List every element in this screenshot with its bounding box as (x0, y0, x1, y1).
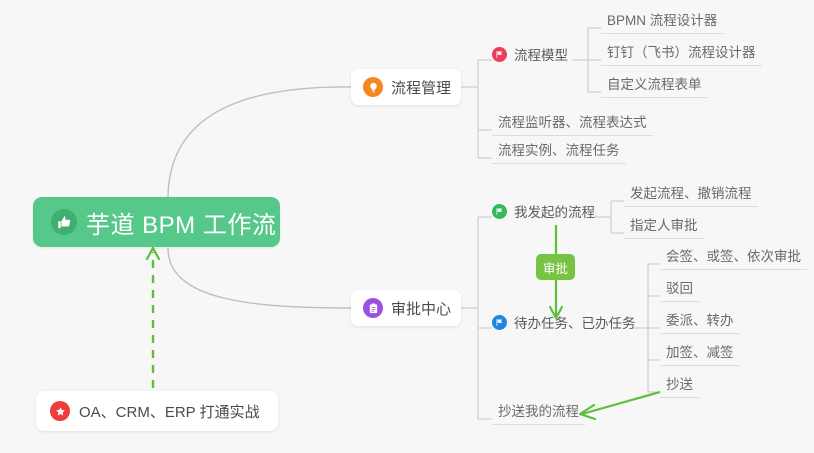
leaf-bohui[interactable]: 驳回 (660, 280, 699, 302)
flag-icon (492, 204, 507, 219)
leaf-faqi-chexiao-liucheng[interactable]: 发起流程、撤销流程 (624, 185, 758, 207)
leaf-dingding-feishu-designer[interactable]: 钉钉（飞书）流程设计器 (601, 44, 762, 66)
curve-root-to-shenpizhongxin (168, 248, 351, 308)
leaf-weipai-zhuanban[interactable]: 委派、转办 (660, 312, 740, 334)
badge-shenpi-label: 审批 (543, 258, 568, 277)
branch-node-shenpizhongxin-label: 审批中心 (391, 298, 451, 319)
thumbs-up-icon (51, 209, 77, 235)
leaf-custom-process-form[interactable]: 自定义流程表单 (601, 76, 708, 98)
lightbulb-icon (363, 77, 383, 97)
green-arrow-chaosong (582, 392, 660, 414)
node-wofaqidelliucheng[interactable]: 我发起的流程 (492, 201, 595, 221)
note-node-oa-crm-erp-label: OA、CRM、ERP 打通实战 (79, 401, 260, 422)
branch-node-liuchengguanli-label: 流程管理 (391, 77, 451, 98)
clipboard-icon (363, 298, 383, 318)
node-liuchengmoxing-label: 流程模型 (514, 44, 568, 64)
leaf-jiaqian-jianqian[interactable]: 加签、减签 (660, 344, 740, 366)
node-wofaqidelliucheng-label: 我发起的流程 (514, 201, 595, 221)
leaf-zhidingren-shenpi[interactable]: 指定人审批 (624, 217, 704, 239)
branch-node-liuchengguanli[interactable]: 流程管理 (351, 69, 461, 105)
node-daiban-yiban-renwu-label: 待办任务、已办任务 (514, 312, 636, 332)
leaf-bpmn-designer[interactable]: BPMN 流程设计器 (601, 12, 723, 34)
curve-root-to-liuchengguanli (168, 87, 351, 199)
flag-icon (492, 47, 507, 62)
star-icon (50, 401, 70, 421)
node-chaosong-wode-liucheng[interactable]: 抄送我的流程 (492, 403, 585, 425)
note-node-oa-crm-erp[interactable]: OA、CRM、ERP 打通实战 (36, 391, 278, 431)
green-dashed-arrow-head (147, 248, 159, 259)
leaf-chaosong[interactable]: 抄送 (660, 376, 699, 398)
mindmap-canvas: 芋道 BPM 工作流 流程管理 审批中心 (0, 0, 814, 453)
node-liucheng-jiantingqi[interactable]: 流程监听器、流程表达式 (492, 114, 653, 136)
leaf-huiqian-huoqian-yicishenpi[interactable]: 会签、或签、依次审批 (660, 248, 807, 270)
flag-icon (492, 315, 507, 330)
badge-shenpi[interactable]: 审批 (536, 254, 575, 280)
node-daiban-yiban-renwu[interactable]: 待办任务、已办任务 (492, 312, 636, 332)
branch-node-shenpizhongxin[interactable]: 审批中心 (351, 290, 461, 326)
root-node[interactable]: 芋道 BPM 工作流 (33, 197, 280, 247)
node-liuchengmoxing[interactable]: 流程模型 (492, 44, 568, 64)
root-node-label: 芋道 BPM 工作流 (86, 205, 276, 240)
node-liucheng-shili[interactable]: 流程实例、流程任务 (492, 142, 626, 164)
